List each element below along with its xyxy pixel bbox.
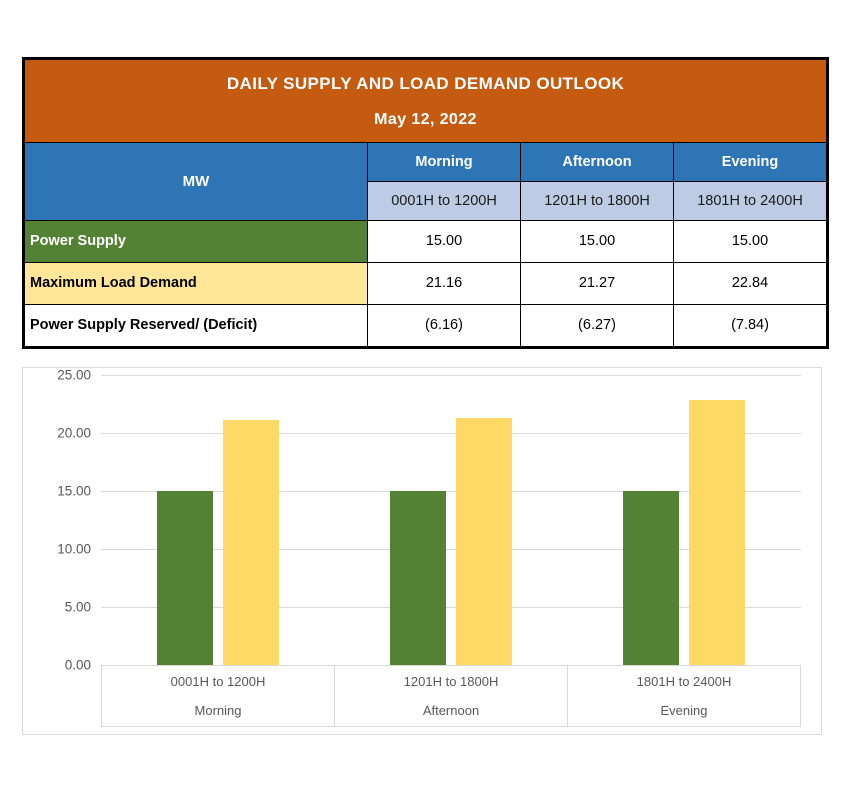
gridline [101, 375, 801, 376]
x-axis-hours-label: 1201H to 1800H [404, 674, 499, 689]
hours-header-evening: 1801H to 2400H [674, 181, 828, 220]
cell-power-supply-evening: 15.00 [674, 220, 828, 262]
period-header-morning: Morning [368, 142, 521, 181]
y-axis-tick-label: 5.00 [65, 600, 91, 615]
bar-power-supply [157, 491, 213, 665]
cell-reserved-morning: (6.16) [368, 304, 521, 347]
y-axis-tick-label: 15.00 [57, 484, 91, 499]
bar-maximum-load-demand [456, 418, 512, 665]
bar-power-supply [390, 491, 446, 665]
y-axis-tick-label: 25.00 [57, 368, 91, 383]
table-header-periods-row: MW Morning Afternoon Evening [24, 142, 828, 181]
y-axis-tick-label: 10.00 [57, 542, 91, 557]
chart-plot-area: 0.005.0010.0015.0020.0025.00 [101, 375, 801, 665]
x-axis-period-label: Morning [195, 703, 242, 718]
table-row: Power Supply 15.00 15.00 15.00 [24, 220, 828, 262]
x-axis-hours-label: 1801H to 2400H [637, 674, 732, 689]
hours-header-afternoon: 1201H to 1800H [521, 181, 674, 220]
period-header-evening: Evening [674, 142, 828, 181]
report-date: May 12, 2022 [29, 110, 822, 135]
x-axis-group: 1201H to 1800HAfternoon [335, 666, 568, 726]
period-header-afternoon: Afternoon [521, 142, 674, 181]
x-axis-group: 0001H to 1200HMorning [102, 666, 335, 726]
table-row: Maximum Load Demand 21.16 21.27 22.84 [24, 262, 828, 304]
row-label-power-supply-reserved: Power Supply Reserved/ (Deficit) [24, 304, 368, 347]
cell-power-supply-afternoon: 15.00 [521, 220, 674, 262]
bar-maximum-load-demand [223, 420, 279, 665]
unit-header-cell: MW [24, 142, 368, 220]
cell-reserved-evening: (7.84) [674, 304, 828, 347]
bar-chart-panel: 0.005.0010.0015.0020.0025.00 0001H to 12… [22, 367, 822, 735]
title-cell: DAILY SUPPLY AND LOAD DEMAND OUTLOOK May… [24, 59, 828, 143]
cell-power-supply-morning: 15.00 [368, 220, 521, 262]
y-axis-tick-label: 0.00 [65, 658, 91, 673]
x-axis-hours-label: 0001H to 1200H [171, 674, 266, 689]
row-label-power-supply: Power Supply [24, 220, 368, 262]
cell-max-load-evening: 22.84 [674, 262, 828, 304]
bar-maximum-load-demand [689, 400, 745, 665]
chart-x-axis-labels: 0001H to 1200HMorning1201H to 1800HAfter… [101, 665, 801, 727]
daily-supply-load-table: DAILY SUPPLY AND LOAD DEMAND OUTLOOK May… [22, 57, 829, 349]
cell-reserved-afternoon: (6.27) [521, 304, 674, 347]
x-axis-period-label: Afternoon [423, 703, 479, 718]
x-axis-group: 1801H to 2400HEvening [568, 666, 800, 726]
table-row: Power Supply Reserved/ (Deficit) (6.16) … [24, 304, 828, 347]
table-title-row: DAILY SUPPLY AND LOAD DEMAND OUTLOOK May… [24, 59, 828, 143]
y-axis-tick-label: 20.00 [57, 426, 91, 441]
cell-max-load-afternoon: 21.27 [521, 262, 674, 304]
row-label-maximum-load-demand: Maximum Load Demand [24, 262, 368, 304]
cell-max-load-morning: 21.16 [368, 262, 521, 304]
page-title: DAILY SUPPLY AND LOAD DEMAND OUTLOOK [29, 74, 822, 110]
bar-power-supply [623, 491, 679, 665]
hours-header-morning: 0001H to 1200H [368, 181, 521, 220]
x-axis-period-label: Evening [661, 703, 708, 718]
